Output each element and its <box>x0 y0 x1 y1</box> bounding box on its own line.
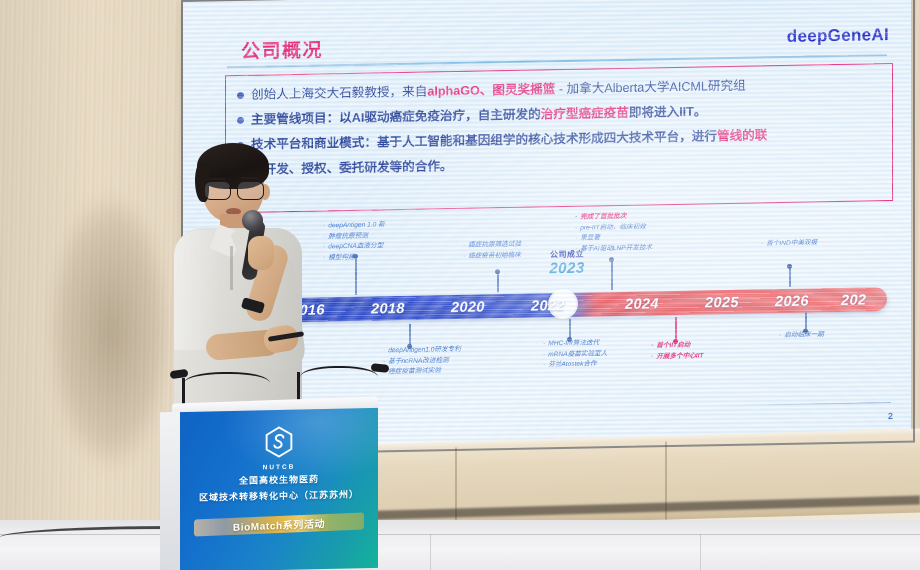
timeline-stem <box>675 317 677 341</box>
page-number: 2 <box>888 411 893 421</box>
founded-year: 2023 <box>527 259 607 277</box>
timeline-stem <box>497 272 499 292</box>
annotation-item: 基于AI驱动LNP开发技术 <box>575 243 652 255</box>
bullet-1-seg-1: 创始人上海交大石毅教授，来自 <box>251 85 427 102</box>
bullet-3-seg-2: 管线的联 <box>717 128 767 143</box>
bullet-2-seg-2: 治疗型癌症疫苗 <box>541 106 629 122</box>
annotation-item: 开展多个中心IIT <box>651 351 703 362</box>
timeline-year-2018: 2018 <box>371 301 405 318</box>
timeline-year-2022: 2022 <box>531 298 565 315</box>
podium: NUTCB 全国高校生物医药 区域技术转移转化中心（江苏苏州） BioMatch… <box>172 400 382 570</box>
bullet-1-seg-3: - 加拿大Alberta大学AICML研究组 <box>555 79 745 96</box>
timeline-year-2025: 2025 <box>705 295 739 312</box>
bullet-1-seg-2: alphaGO、图灵奖摇篮 <box>427 82 555 98</box>
podium-logo: NUTCB <box>180 424 378 473</box>
timeline-annotation-below-3: 启动临床一期 <box>779 330 824 341</box>
timeline-annotation-above-1: 癌症抗原筛选试验癌症疫苗初始临床 <box>463 240 521 262</box>
timeline-stem <box>409 324 411 346</box>
bullet-dot-icon <box>237 117 244 124</box>
speaker-hand-right <box>248 236 274 270</box>
annotation-item: 首个IND中美双报 <box>761 238 817 250</box>
presentation-scene: 公司概况 deepGeneAI 创始人上海交大石毅教授，来自alphaGO、图灵… <box>0 0 920 570</box>
timeline-year-2020: 2020 <box>451 299 485 316</box>
slide-footer-rule <box>713 402 891 407</box>
annotation-item: 癌症疫苗测试实验 <box>383 366 461 378</box>
glasses-lens-left <box>204 181 231 200</box>
bullet-2-seg-1: 主要管线项目：以AI驱动癌症免疫治疗，自主研发的 <box>251 107 541 126</box>
glasses-icon <box>204 181 266 198</box>
timeline-stem-dot <box>495 269 500 274</box>
annotation-item: 芬兰Atostek合作 <box>543 359 607 371</box>
slide-title: 公司概况 <box>241 35 323 64</box>
gooseneck-mic-arm-right <box>300 366 378 390</box>
shirt-placket <box>230 246 233 290</box>
nutcb-hexagon-logo-icon <box>264 426 294 459</box>
podium-line-1: 全国高校生物医药 <box>180 471 378 488</box>
podium-text-block: 全国高校生物医药 区域技术转移转化中心（江苏苏州） <box>180 468 378 504</box>
timeline-annotation-below-2: 首个IIT启动开展多个中心IIT <box>651 340 703 362</box>
annotation-item: 启动临床一期 <box>779 330 824 341</box>
timeline-stem <box>789 267 791 287</box>
podium-front-panel: NUTCB 全国高校生物医药 区域技术转移转化中心（江苏苏州） BioMatch… <box>180 408 378 570</box>
timeline-year-2024: 2024 <box>625 296 659 313</box>
timeline-annotation-above-3: 首个IND中美双报 <box>761 238 817 250</box>
timeline-stem-dot <box>787 264 792 269</box>
glasses-lens-right <box>237 181 264 200</box>
annotation-item: pre-IIT启动，临床初效 <box>575 222 652 234</box>
timeline-annotation-below-0: deepAntigen1.0研发专利基于ncRNA改进检测癌症疫苗测试实验 <box>383 345 461 378</box>
annotation-item: mRNA疫苗实验室人 <box>543 349 607 361</box>
bullet-dot-icon <box>237 92 244 99</box>
annotation-item: 癌症疫苗初始临床 <box>463 250 521 262</box>
timeline-year-202: 202 <box>841 292 866 308</box>
timeline-year-2026: 2026 <box>775 294 809 311</box>
timeline-stem <box>355 257 357 295</box>
biomatch-badge-label: BioMatch系列活动 <box>233 515 325 534</box>
timeline-annotation-below-1: MHC-I/II算法迭代mRNA疫苗实验室人芬兰Atostek合作 <box>543 338 607 371</box>
bullet-2-seg-3: 即将进入IIT。 <box>629 104 707 119</box>
timeline-stem <box>611 260 613 290</box>
timeline-annotation-above-2: 完成了首批批次pre-IIT启动，临床初效果显著基于AI驱动LNP开发技术 <box>575 211 652 254</box>
annotation-item: deepAntigen1.0研发专利 <box>383 345 461 357</box>
podium-side-panel <box>160 412 182 570</box>
timeline-stem-dot <box>609 257 614 262</box>
gooseneck-mic-arm-left <box>184 372 270 396</box>
company-logo-text: deepGeneAI <box>787 25 889 47</box>
